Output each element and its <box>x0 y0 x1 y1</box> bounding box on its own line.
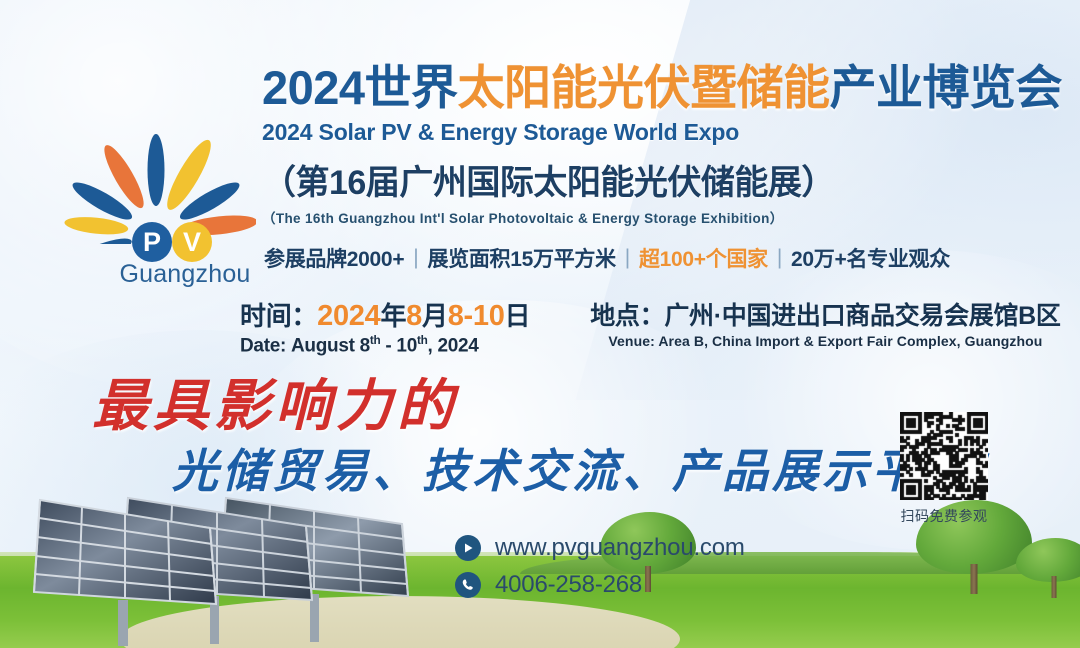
pv-guangzhou-logo: P V Guangzhou <box>56 104 256 294</box>
stat-item-visitors: 20万+名专业观众 <box>791 243 950 273</box>
venue-label-cn: 地点： <box>590 302 664 330</box>
phone-icon <box>455 572 481 598</box>
date-month-unit: 月 <box>422 301 448 331</box>
stat-separator: | <box>413 246 418 270</box>
date-venue-row: 时间：2024年8月8-10日 Date: August 8th - 10th,… <box>240 296 1040 357</box>
qr-caption: 扫码免费参观 <box>898 506 990 526</box>
expo-poster: P V Guangzhou 2024世界太阳能光伏暨储能产业博览会 2024 S… <box>0 0 1080 648</box>
date-days: 8-10 <box>448 300 505 332</box>
venue-value-cn: 广州·中国进出口商品交易会展馆B区 <box>664 302 1060 330</box>
qr-block: 扫码免费参观 <box>898 412 990 526</box>
date-en-dash: - <box>385 335 391 356</box>
date-en-month: August <box>291 335 355 356</box>
main-title: 2024世界太阳能光伏暨储能产业博览会 <box>262 64 1062 112</box>
stats-row: 参展品牌2000+ | 展览面积15万平方米 | 超100+个国家 | 20万+… <box>264 243 950 273</box>
phone-number[interactable]: 4006-258-268 <box>495 571 642 599</box>
slogan-line-1: 最具影响力的 <box>92 378 912 434</box>
tree-right <box>1016 538 1080 596</box>
website-row[interactable]: www.pvguangzhou.com <box>455 534 745 562</box>
logo-letter-p: P <box>132 222 172 262</box>
headline-block: 2024世界太阳能光伏暨储能产业博览会 2024 Solar PV & Ener… <box>262 64 1062 227</box>
date-english: Date: August 8th - 10th, 2024 <box>240 334 530 357</box>
venue-english: Venue: Area B, China Import & Export Fai… <box>608 333 1042 349</box>
venue-chinese: 地点：广州·中国进出口商品交易会展馆B区 <box>590 296 1060 332</box>
stat-item-brands: 参展品牌2000+ <box>264 243 404 273</box>
main-title-english: 2024 Solar PV & Energy Storage World Exp… <box>262 119 1062 146</box>
logo-letter-v: V <box>172 222 212 262</box>
play-circle-icon <box>455 535 481 561</box>
date-en-day2: 10 <box>396 335 417 356</box>
date-chinese: 时间：2024年8月8-10日 <box>240 296 530 333</box>
stat-separator: | <box>777 246 782 270</box>
logo-city-label: Guangzhou <box>100 260 270 289</box>
main-title-part3: 产业博览会 <box>830 61 1063 114</box>
website-url[interactable]: www.pvguangzhou.com <box>495 534 745 562</box>
contact-block: www.pvguangzhou.com 4006-258-268 <box>455 534 745 608</box>
stat-item-countries: 超100+个国家 <box>639 243 768 273</box>
date-en-year: , 2024 <box>427 335 478 356</box>
main-title-part2: 太阳能光伏暨储能 <box>458 61 830 114</box>
subtitle-english: （The 16th Guangzhou Int'l Solar Photovol… <box>262 207 1062 227</box>
phone-row[interactable]: 4006-258-268 <box>455 571 745 599</box>
subtitle-chinese: （第16届广州国际太阳能光伏储能展） <box>262 155 1062 204</box>
date-label-en: Date: <box>240 335 286 356</box>
date-en-sup2: th <box>417 334 428 347</box>
qr-code-image[interactable] <box>900 412 988 500</box>
date-year-unit: 年 <box>380 301 406 331</box>
date-year: 2024 <box>317 300 380 332</box>
date-day-unit: 日 <box>505 301 531 331</box>
stat-item-area: 展览面积15万平方米 <box>427 243 615 273</box>
logo-pv-lettermark: P V <box>132 222 212 262</box>
main-title-part1: 2024世界 <box>262 61 458 114</box>
date-block: 时间：2024年8月8-10日 Date: August 8th - 10th,… <box>240 296 530 357</box>
date-en-day1: 8 <box>360 335 370 356</box>
date-en-sup1: th <box>370 334 381 347</box>
stat-separator: | <box>625 246 630 270</box>
venue-block: 地点：广州·中国进出口商品交易会展馆B区 Venue: Area B, Chin… <box>590 296 1060 349</box>
date-label-cn: 时间： <box>240 301 317 331</box>
solar-panel-array <box>10 476 450 646</box>
date-month: 8 <box>406 300 422 332</box>
